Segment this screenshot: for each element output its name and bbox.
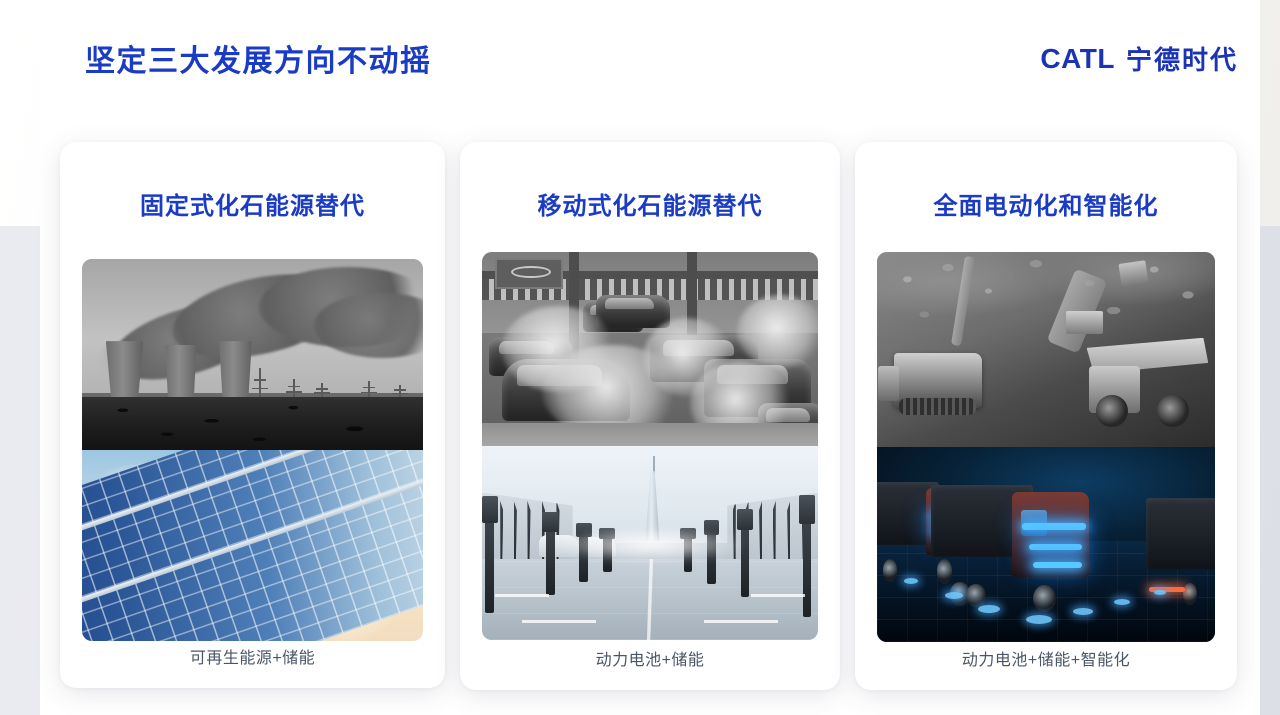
card-mobile-fossil-replacement[interactable]: 移动式化石能源替代 (460, 142, 840, 690)
parking-stripe (522, 620, 596, 623)
card-caption: 动力电池+储能 (460, 646, 840, 670)
ev-charger (546, 529, 555, 595)
photo-electric-trucks (877, 447, 1215, 642)
truck-wheel (883, 559, 897, 581)
page-title: 坚定三大发展方向不动摇 (85, 36, 432, 80)
road-sign (495, 258, 562, 289)
card-caption: 动力电池+储能+智能化 (855, 646, 1237, 670)
photo-coal-power-plant (82, 259, 423, 450)
distant-haul-truck (1066, 311, 1103, 334)
road-surface (482, 423, 818, 446)
truck-wheel (1157, 395, 1189, 427)
neon-light-strip (1033, 562, 1082, 568)
floor-reflection (945, 592, 963, 599)
car (596, 295, 670, 328)
truck-wheel (1096, 395, 1128, 427)
solar-panel-array (82, 450, 423, 641)
logo-latin-text: CATL (1040, 43, 1115, 75)
ev-charger (485, 520, 494, 613)
card-photo-stack (82, 259, 423, 641)
ground-layer (82, 397, 423, 450)
ev-charger (803, 520, 812, 617)
card-stationary-fossil-replacement[interactable]: 固定式化石能源替代 (60, 142, 445, 688)
plaza-ground (482, 559, 818, 640)
cooling-tower (164, 345, 198, 398)
charger-head (799, 495, 815, 524)
neon-light-strip (1022, 523, 1085, 529)
photo-mining-machinery (877, 252, 1215, 447)
slide-root: 坚定三大发展方向不动摇 CATL 宁德时代 固定式化石能源替代 (0, 0, 1280, 715)
card-title: 全面电动化和智能化 (855, 186, 1237, 221)
excavator (1119, 260, 1149, 287)
photo-solar-panels (82, 450, 423, 641)
electric-truck (1141, 498, 1215, 607)
neon-light-strip (1029, 544, 1082, 550)
logo-chinese-text: 宁德时代 (1126, 40, 1238, 77)
floor-reflection (978, 605, 1000, 613)
parking-stripe (704, 620, 778, 623)
truck-wheel (966, 584, 985, 607)
card-full-electrification-intelligence[interactable]: 全面电动化和智能化 (855, 142, 1237, 690)
floor-reflection (904, 578, 918, 584)
catl-logo: CATL 宁德时代 (1040, 40, 1238, 77)
horizon-haze (556, 527, 744, 562)
floor-reflection (1114, 599, 1130, 605)
card-photo-stack (877, 252, 1215, 642)
cooling-tower (218, 341, 252, 398)
card-caption: 可再生能源+储能 (60, 644, 445, 668)
truck-trailer (1146, 498, 1215, 570)
card-title: 移动式化石能源替代 (460, 186, 840, 221)
power-pylon (259, 368, 261, 399)
parking-stripe (751, 594, 805, 597)
slide-header: 坚定三大发展方向不动摇 CATL 宁德时代 (0, 0, 1280, 120)
parking-stripe (495, 594, 549, 597)
exhaust-smoke (737, 295, 818, 369)
haul-truck (1087, 338, 1209, 428)
charger-head (482, 496, 498, 524)
floor-reflection (1073, 608, 1093, 615)
photo-ev-charging-station (482, 446, 818, 640)
truck-wheel (1033, 585, 1056, 612)
cooling-tower (106, 341, 144, 398)
truck-wheel (1183, 583, 1197, 605)
card-photo-stack (482, 252, 818, 640)
bulldozer (894, 353, 982, 408)
photo-traffic-exhaust (482, 252, 818, 446)
card-title: 固定式化石能源替代 (60, 186, 445, 221)
